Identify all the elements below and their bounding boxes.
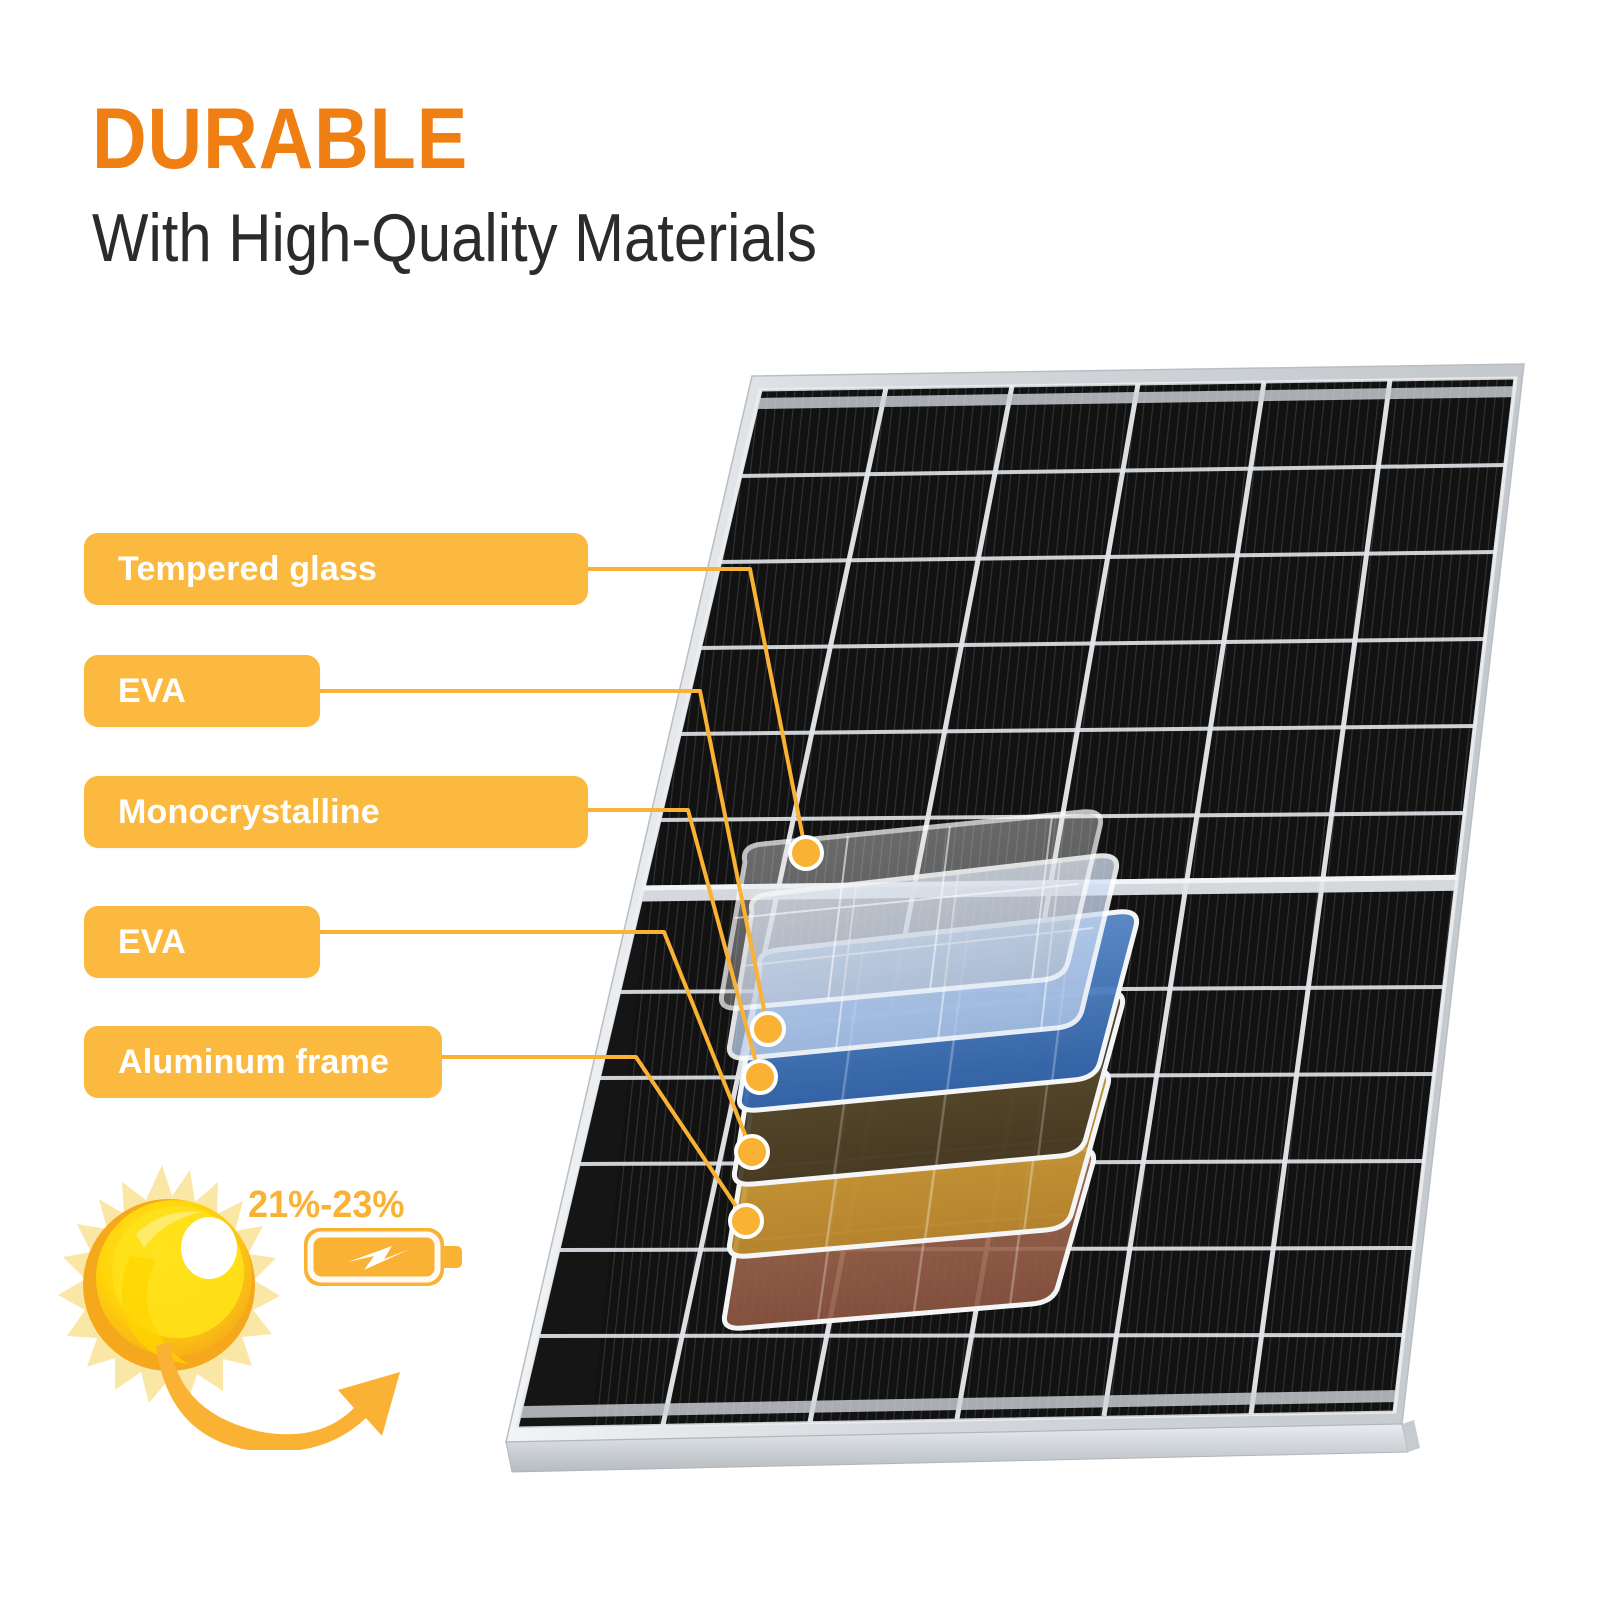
callout-label: Monocrystalline (118, 793, 380, 832)
dot-monocrystalline (744, 1061, 776, 1093)
battery-terminal (444, 1246, 462, 1268)
callout-tempered-glass[interactable]: Tempered glass (84, 533, 588, 605)
sun-specular-highlight (181, 1217, 237, 1279)
tempered-glass-layer (721, 812, 1100, 1008)
callout-label: EVA (118, 672, 186, 711)
dot-aluminum-frame (730, 1205, 762, 1237)
dot-tempered-glass (790, 837, 822, 869)
callout-label: Aluminum frame (118, 1043, 389, 1082)
dot-eva-top (752, 1013, 784, 1045)
callout-aluminum-frame[interactable]: Aluminum frame (84, 1026, 442, 1098)
page-heading: DURABLE With High-Quality Materials (92, 96, 1292, 281)
callout-monocrystalline[interactable]: Monocrystalline (84, 776, 588, 848)
battery-bolt-icon (304, 1228, 462, 1286)
title-durable: DURABLE (92, 96, 1148, 184)
dot-eva-bottom (736, 1136, 768, 1168)
callout-eva-top[interactable]: EVA (84, 655, 320, 727)
callout-label: EVA (118, 923, 186, 962)
callout-eva-bottom[interactable]: EVA (84, 906, 320, 978)
callout-label: Tempered glass (118, 550, 377, 589)
efficiency-value: 21%-23% (248, 1184, 405, 1227)
title-subtitle: With High-Quality Materials (92, 196, 1148, 281)
